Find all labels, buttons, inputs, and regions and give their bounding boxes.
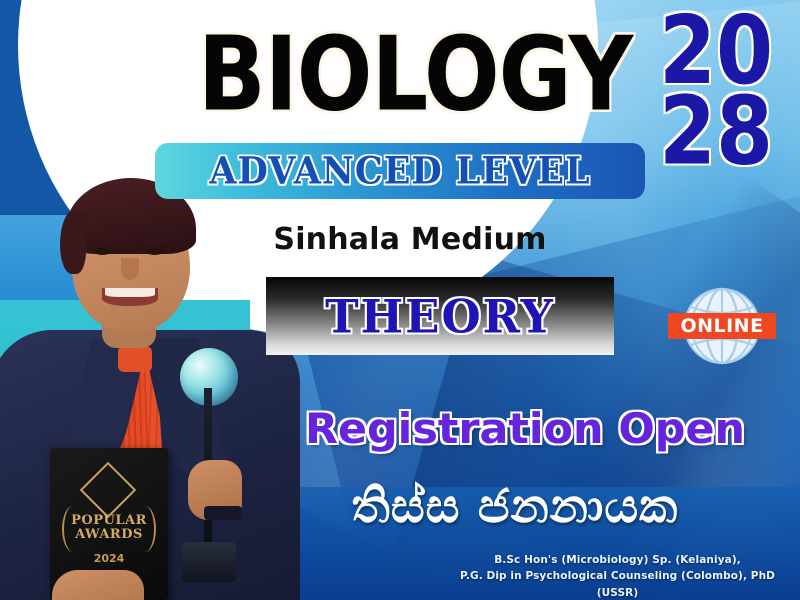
trophy-base — [182, 542, 236, 582]
subject-title: BIOLOGY — [161, 15, 670, 132]
eyebrow-right — [144, 238, 166, 243]
award-logo-icon — [80, 462, 137, 519]
credentials-line-2: P.G. Dip in Psychological Counseling (Co… — [440, 568, 795, 600]
eye-right — [146, 248, 163, 255]
teacher-name: තිස්ස ජනනායක — [300, 482, 730, 531]
award-plaque-year: 2024 — [50, 552, 168, 565]
year-label: 20 28 — [646, 12, 786, 172]
teeth — [105, 288, 155, 297]
necktie-knot — [118, 346, 152, 372]
registration-status: Registration Open — [285, 404, 764, 453]
hand-holding-plaque — [52, 570, 144, 600]
eye-left — [94, 248, 111, 255]
online-badge-label: ONLINE — [668, 313, 776, 339]
class-type-box: THEORY — [266, 277, 614, 355]
medium-label: Sinhala Medium — [240, 222, 580, 257]
level-banner: ADVANCED LEVEL — [155, 143, 645, 199]
online-badge: ONLINE — [672, 285, 772, 367]
award-plaque-title: POPULAR AWARDS — [50, 514, 168, 543]
smiling-mouth — [102, 288, 158, 306]
promotional-poster: POPULAR AWARDS 2024 BIOLOGY 20 28 ADVANC… — [0, 0, 800, 600]
nose — [121, 258, 139, 280]
eyebrow-left — [91, 238, 113, 243]
credentials-line-1: B.Sc Hon's (Microbiology) Sp. (Kelaniya)… — [440, 552, 795, 568]
hair-side — [60, 210, 86, 274]
level-banner-label: ADVANCED LEVEL — [209, 149, 590, 192]
year-line-2: 28 — [646, 92, 786, 172]
wristwatch — [204, 506, 242, 520]
class-type-label: THEORY — [325, 289, 555, 343]
credentials: B.Sc Hon's (Microbiology) Sp. (Kelaniya)… — [440, 552, 795, 600]
